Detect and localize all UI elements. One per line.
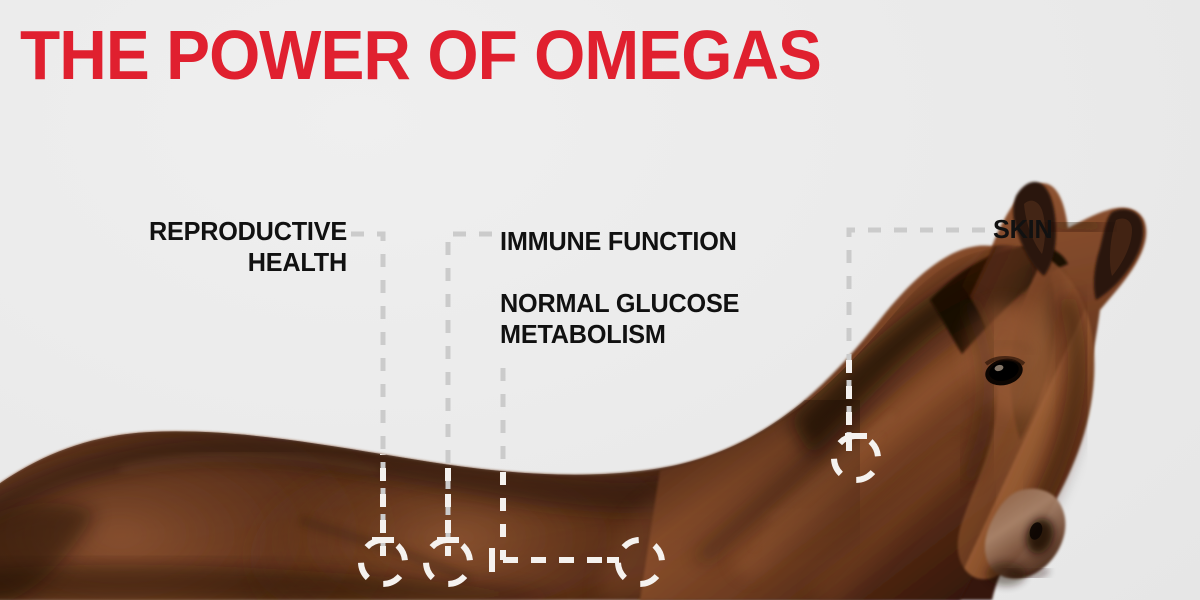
callout-label-skin: SKIN bbox=[993, 214, 1052, 245]
callout-label-normal-glucose-metabolism: NORMAL GLUCOSE METABOLISM bbox=[500, 288, 739, 350]
callout-label-immune-function: IMMUNE FUNCTION bbox=[500, 226, 737, 257]
callout-label-reproductive-health: REPRODUCTIVE HEALTH bbox=[41, 216, 347, 278]
page-title: THE POWER OF OMEGAS bbox=[20, 18, 821, 92]
infographic-canvas: THE POWER OF OMEGAS bbox=[0, 0, 1200, 600]
